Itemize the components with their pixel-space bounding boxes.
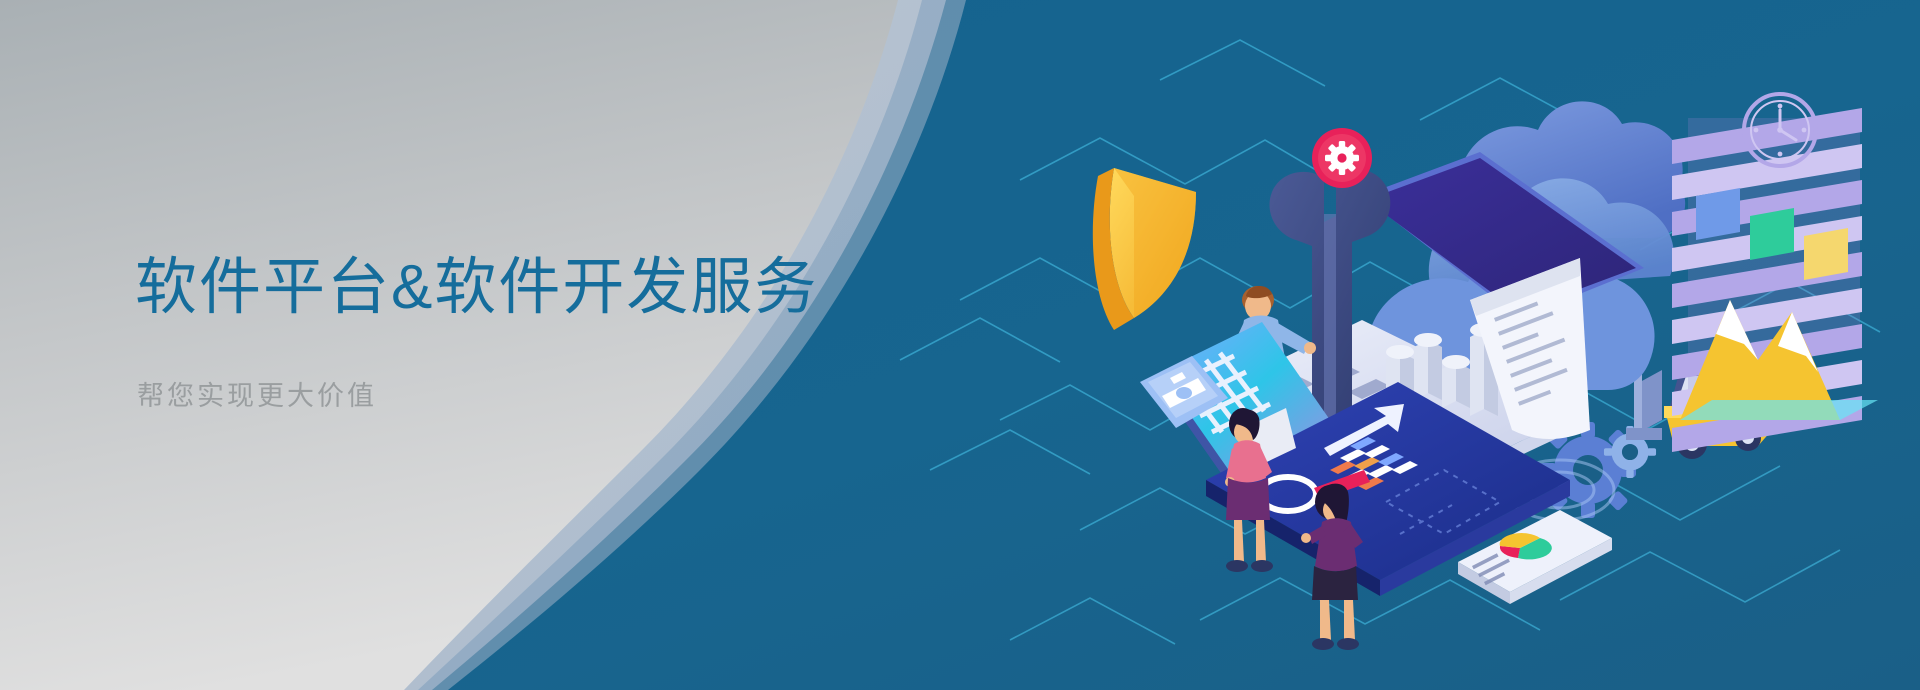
gear-badge-icon: [1312, 128, 1372, 188]
banner-artwork: [0, 0, 1920, 690]
clock-icon: [1744, 94, 1816, 166]
hero-banner: 软件平台&软件开发服务 帮您实现更大价值: [0, 0, 1920, 690]
